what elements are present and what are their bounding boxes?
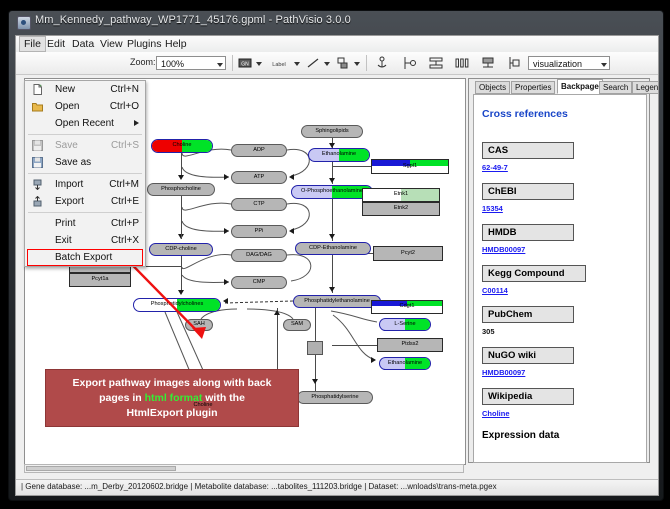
menu-item-label: New — [55, 84, 75, 95]
menu-item-accel: Ctrl+M — [109, 176, 139, 193]
section-header-wikipedia: Wikipedia — [482, 388, 574, 405]
edge-ptdss2-connector — [332, 345, 377, 346]
node-cdp-choline[interactable]: CDP-choline — [149, 243, 213, 256]
node-cdp-ethanolamine[interactable]: CDP-Ethanolamine — [295, 242, 371, 255]
gene-label: Pcyt2 — [374, 247, 442, 260]
menu-item-label: Save as — [55, 157, 91, 168]
gene-etnk1[interactable]: Etnk1 — [362, 188, 440, 202]
shape-dropdown-caret-icon[interactable] — [354, 62, 360, 66]
gene-pcyt1a[interactable]: Pcyt1a — [69, 273, 131, 287]
stack-icon — [428, 55, 444, 71]
label-icon: Label — [268, 55, 290, 71]
node-label: SAH — [193, 322, 205, 328]
node-label: ADP — [253, 148, 265, 154]
node-dag[interactable]: DAG/DAG — [231, 249, 287, 262]
annotation-callout: Export pathway images along with back pa… — [45, 369, 299, 427]
callout-line1: Export pathway images along with back — [73, 377, 272, 389]
node-sam[interactable]: SAM — [283, 319, 311, 331]
menu-item-label: Export — [55, 196, 84, 207]
toolbar: Zoom: 100% GN Label — [16, 52, 658, 75]
anchor-icon — [374, 55, 390, 71]
arrow-right-cmp — [224, 279, 229, 285]
distribute-icon — [454, 55, 470, 71]
align-left-icon — [402, 55, 418, 71]
sidebar-tabstrip: Objects Properties Backpage Search Legen… — [469, 79, 649, 94]
svg-text:Label: Label — [272, 62, 285, 68]
section-value-cas[interactable]: 62-49-7 — [482, 163, 642, 172]
arrow-down-7 — [329, 287, 335, 292]
tab-backpage[interactable]: Backpage — [557, 79, 603, 94]
anchor-tool-button[interactable] — [374, 55, 390, 71]
line-icon — [306, 55, 320, 71]
node-label: L-Serine — [394, 322, 415, 328]
menu-data[interactable]: Data — [68, 37, 98, 51]
node-ethanolamine-1[interactable]: Ethanolamine — [308, 148, 370, 162]
status-bar: | Gene database: ...m_Derby_20120602.bri… — [16, 479, 658, 495]
callout-text: Export pathway images along with back pa… — [67, 376, 278, 421]
node-phosphatidylserine[interactable]: Phosphatidylserine — [297, 391, 373, 404]
toolbar-separator-2 — [366, 55, 367, 71]
node-label: O-Phosphoethanolamine — [301, 189, 363, 195]
menu-item-label: Print — [55, 218, 76, 229]
distribute-tool-button[interactable] — [454, 55, 470, 71]
ungroup-tool-button[interactable] — [506, 55, 522, 71]
gene-sgpl1[interactable]: Sgpl1 — [371, 159, 449, 174]
import-icon — [32, 179, 43, 190]
section-value-hmdb[interactable]: HMDB00097 — [482, 245, 642, 254]
menu-bar: File Edit Data View Plugins Help — [16, 36, 658, 53]
section-header-cas: CAS — [482, 142, 574, 159]
node-adp[interactable]: ADP — [231, 144, 287, 157]
section-header-hmdb: HMDB — [482, 224, 574, 241]
canvas-hscroll-thumb[interactable] — [26, 466, 176, 471]
screenshot-frame: Mm_Kennedy_pathway_WP1771_45176.gpml - P… — [0, 0, 670, 509]
node-atp[interactable]: ATP — [231, 171, 287, 184]
anchor-box[interactable] — [307, 341, 323, 355]
node-label: Ethanolamine — [322, 152, 356, 158]
section-value-wikipedia[interactable]: Choline — [482, 409, 642, 418]
arrow-down-1 — [178, 175, 184, 180]
stack-tool-button[interactable] — [428, 55, 444, 71]
svg-text:GN: GN — [241, 62, 249, 68]
node-label: CMP — [253, 280, 265, 286]
line-tool-button[interactable] — [306, 55, 320, 71]
shape-icon — [336, 55, 350, 71]
menu-edit[interactable]: Edit — [43, 37, 69, 51]
label-tool-button[interactable]: Label — [268, 55, 290, 71]
backpage-inner: Cross references CAS 62-49-7 ChEBI 15354… — [482, 95, 642, 441]
menu-item-batch-export[interactable]: Batch Export — [25, 249, 145, 266]
datanode-dropdown-caret-icon[interactable] — [256, 62, 262, 66]
line-dropdown-caret-icon[interactable] — [324, 62, 330, 66]
zoom-value: 100% — [161, 59, 184, 69]
arrow-up-1 — [274, 310, 280, 315]
node-ctp[interactable]: CTP — [231, 198, 287, 211]
status-bar-text: | Gene database: ...m_Derby_20120602.bri… — [21, 482, 497, 491]
node-label: Phosphocholine — [161, 187, 201, 193]
expression-data-heading: Expression data — [482, 430, 642, 441]
arrow-left-ppi — [289, 228, 294, 234]
section-header-pubchem: PubChem — [482, 306, 574, 323]
node-choline[interactable]: Choline — [151, 139, 213, 153]
group-icon — [480, 55, 496, 71]
save-as-icon — [32, 157, 43, 168]
menu-item-label: Open Recent — [55, 118, 114, 129]
node-label: CDP-choline — [165, 247, 196, 253]
menu-separator-3 — [28, 212, 142, 213]
application-window: Mm_Kennedy_pathway_WP1771_45176.gpml - P… — [8, 10, 664, 501]
menu-help[interactable]: Help — [161, 37, 191, 51]
section-header-nugo: NuGO wiki — [482, 347, 574, 364]
gene-label: Etnk1 — [363, 189, 439, 201]
gene-etnk2[interactable]: Etnk2 — [362, 202, 440, 216]
app-icon — [17, 16, 31, 30]
canvas-hscrollbar[interactable] — [24, 464, 464, 473]
sidebar-panel: Objects Properties Backpage Search Legen… — [468, 78, 650, 463]
ungroup-icon — [506, 55, 522, 71]
menu-item-accel: Ctrl+X — [111, 232, 139, 249]
node-label: Phosphatidylserine — [311, 395, 358, 401]
arrow-into-ptdcholines — [223, 298, 228, 304]
node-label: CDP-Ethanolamine — [309, 246, 357, 252]
section-value-pubchem: 305 — [482, 327, 642, 336]
menu-item-label: Import — [55, 179, 83, 190]
menu-item-export[interactable]: Export Ctrl+E — [25, 193, 145, 210]
toolbar-separator — [232, 55, 233, 71]
gene-cdgt1[interactable]: Cdgt1 — [371, 300, 443, 314]
node-label: Phosphatidylcholines — [151, 302, 204, 308]
node-label: Sphingolipids — [315, 129, 348, 135]
section-value-chebi[interactable]: 15354 — [482, 204, 642, 213]
visualization-combobox[interactable]: visualization — [528, 56, 610, 70]
menu-item-open[interactable]: Open Ctrl+O — [25, 98, 145, 115]
arrow-down-6 — [329, 234, 335, 239]
chevron-down-icon-2 — [601, 63, 607, 67]
menu-file[interactable]: File — [19, 36, 46, 52]
datanode-icon: GN — [238, 55, 252, 71]
menu-item-print[interactable]: Print Ctrl+P — [25, 215, 145, 232]
arrow-down-3 — [178, 290, 184, 295]
menu-item-label: Batch Export — [55, 252, 112, 263]
menu-item-accel: Ctrl+P — [111, 215, 139, 232]
tab-search[interactable]: Search — [599, 81, 632, 94]
new-document-icon — [32, 84, 43, 95]
export-icon — [32, 196, 43, 207]
node-cmp[interactable]: CMP — [231, 276, 287, 289]
node-phosphatidylcholines[interactable]: Phosphatidylcholines — [133, 298, 221, 312]
node-label: ATP — [254, 175, 264, 181]
menu-item-import[interactable]: Import Ctrl+M — [25, 176, 145, 193]
node-label: SAM — [291, 322, 303, 328]
callout-line3: HtmlExport plugin — [127, 407, 218, 419]
menu-plugins[interactable]: Plugins — [123, 37, 165, 51]
menu-item-exit[interactable]: Exit Ctrl+X — [25, 232, 145, 249]
menu-item-accel: Ctrl+E — [111, 193, 139, 210]
group-tool-button[interactable] — [480, 55, 496, 71]
arrow-right-ethanolamine — [371, 357, 376, 363]
shape-tool-button[interactable] — [336, 55, 350, 71]
gene-label: Etnk2 — [363, 203, 439, 215]
arrow-down-5 — [329, 178, 335, 183]
gene-pcyt2[interactable]: Pcyt2 — [373, 246, 443, 261]
open-folder-icon — [32, 101, 43, 112]
node-l-serine[interactable]: L-Serine — [379, 318, 431, 331]
title-bar: Mm_Kennedy_pathway_WP1771_45176.gpml - P… — [9, 11, 663, 33]
gene-label: Pcyt1a — [70, 274, 130, 286]
section-value-nugo[interactable]: HMDB00097 — [482, 368, 642, 377]
callout-line2-pre: pages in — [99, 392, 145, 404]
node-label: PPi — [255, 229, 264, 235]
node-sah[interactable]: SAH — [185, 319, 213, 331]
node-label: Choline — [173, 143, 192, 149]
gene-label: Sgpl1 — [372, 160, 448, 173]
save-disk-icon — [32, 140, 43, 151]
node-label: Phosphatidylethanolamine — [304, 299, 370, 305]
arrow-right-ppi — [224, 228, 229, 234]
gene-ptdss2[interactable]: Ptdss2 — [377, 338, 443, 352]
gene-label: Ptdss2 — [378, 339, 442, 351]
arrow-left-atp — [289, 174, 294, 180]
menu-item-label: Open — [55, 101, 79, 112]
menu-item-label: Exit — [55, 235, 72, 246]
file-menu-dropdown[interactable]: New Ctrl+N Open Ctrl+O Open Recent — [24, 80, 146, 267]
menu-item-save: Save Ctrl+S — [25, 137, 145, 154]
menu-item-open-recent[interactable]: Open Recent — [25, 115, 145, 132]
node-ppi[interactable]: PPi — [231, 225, 287, 238]
cross-references-heading: Cross references — [482, 108, 642, 120]
backpage-content: Cross references CAS 62-49-7 ChEBI 15354… — [473, 94, 647, 463]
arrow-right-atp — [224, 174, 229, 180]
menu-item-accel: Ctrl+N — [110, 81, 139, 98]
zoom-label: Zoom: — [130, 57, 156, 67]
menu-item-accel: Ctrl+O — [110, 98, 139, 115]
client-area: File Edit Data View Plugins Help Zoom: 1… — [15, 35, 659, 496]
edge-mid-1 — [181, 211, 182, 239]
node-sphingolipids[interactable]: Sphingolipids — [301, 125, 363, 138]
tab-objects[interactable]: Objects — [475, 81, 510, 94]
visualization-value: visualization — [533, 59, 582, 69]
node-label: DAG/DAG — [246, 253, 272, 259]
node-label: CTP — [253, 202, 264, 208]
section-header-chebi: ChEBI — [482, 183, 574, 200]
section-value-kegg[interactable]: C00114 — [482, 286, 642, 295]
label-dropdown-caret-icon[interactable] — [294, 62, 300, 66]
section-header-kegg: Kegg Compound — [482, 265, 586, 282]
node-phosphocholine[interactable]: Phosphocholine — [147, 183, 215, 196]
menu-item-save-as[interactable]: Save as — [25, 154, 145, 171]
menu-item-accel: Ctrl+S — [111, 137, 139, 154]
tab-properties[interactable]: Properties — [511, 81, 555, 94]
edge-cdpcholine-ptdcholines — [181, 256, 182, 291]
edge-sgpl1-connector — [332, 166, 371, 167]
menu-item-label: Save — [55, 140, 78, 151]
datanode-tool-button[interactable]: GN — [238, 55, 252, 71]
node-ethanolamine-2[interactable]: Ethanolamine — [379, 357, 431, 370]
chevron-down-icon — [217, 63, 223, 67]
arrow-down-8 — [312, 379, 318, 384]
gene-label: Cdgt1 — [372, 301, 442, 313]
node-label: Choline — [194, 403, 213, 409]
zoom-combobox[interactable]: 100% — [156, 56, 226, 70]
window-title: Mm_Kennedy_pathway_WP1771_45176.gpml - P… — [35, 14, 351, 26]
menu-separator-1 — [28, 134, 142, 135]
node-phosphatidylethanolamine[interactable]: Phosphatidylethanolamine — [293, 295, 381, 308]
tab-legend[interactable]: Legend — [632, 81, 659, 94]
align-left-tool-button[interactable] — [402, 55, 418, 71]
node-label: Ethanolamine — [388, 361, 422, 367]
submenu-arrow-icon — [134, 120, 139, 126]
menu-item-new[interactable]: New Ctrl+N — [25, 81, 145, 98]
menu-view[interactable]: View — [96, 37, 127, 51]
menu-separator-2 — [28, 173, 142, 174]
node-o-phosphoethanolamine[interactable]: O-Phosphoethanolamine — [291, 185, 373, 199]
